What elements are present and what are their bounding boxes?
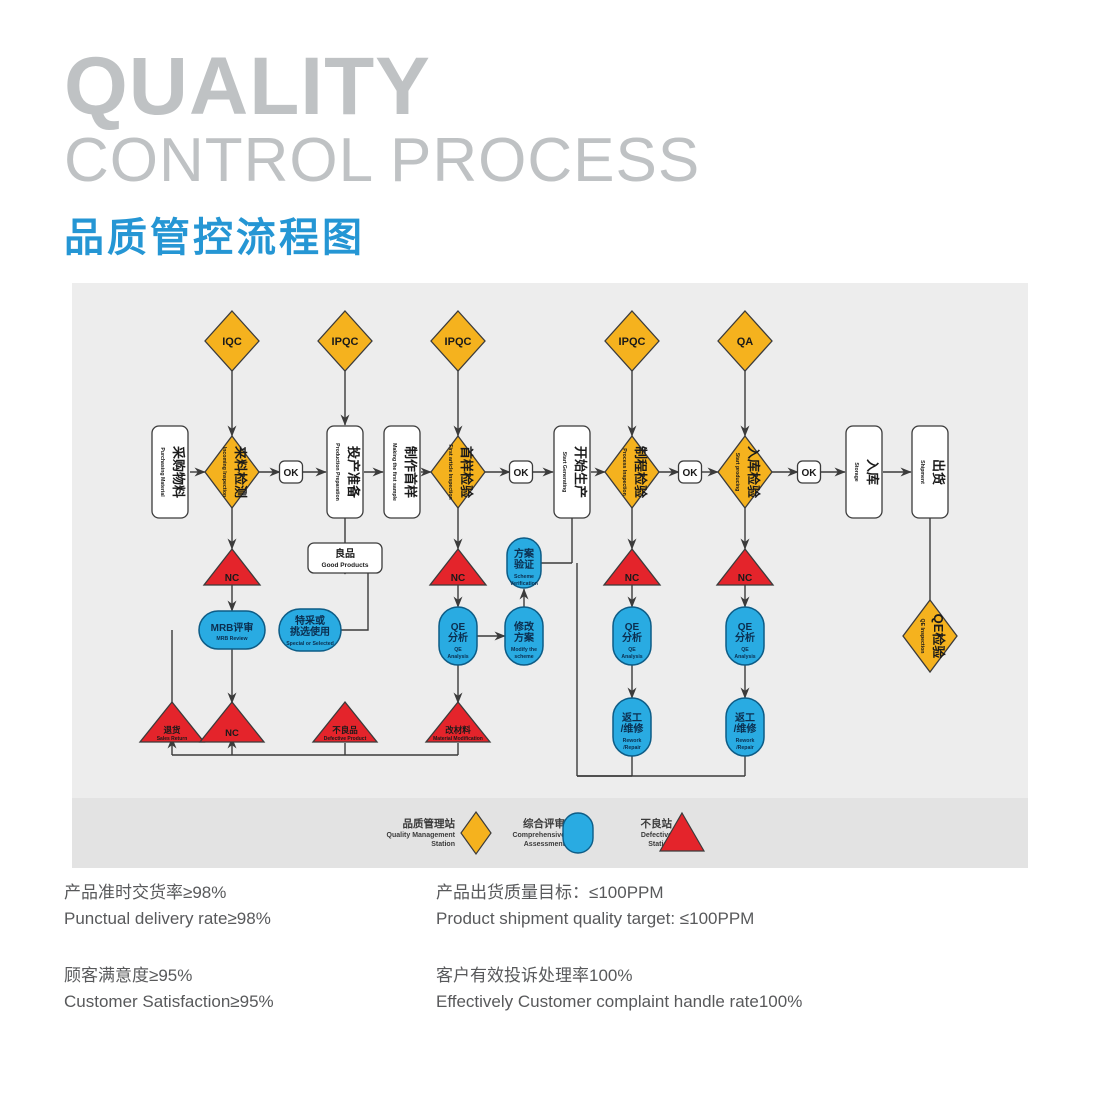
ok-node-ok2[interactable]: OK bbox=[510, 461, 533, 483]
nc-triangle-nc-warehouse[interactable]: NC bbox=[717, 549, 773, 585]
svg-text:IQC: IQC bbox=[222, 336, 242, 348]
svg-text:scheme: scheme bbox=[514, 654, 533, 660]
oval-rework-1[interactable]: 返工/维修Rework/Repair bbox=[613, 698, 651, 756]
legend-oval-icon bbox=[563, 813, 593, 853]
svg-text:返工: 返工 bbox=[735, 711, 755, 724]
svg-text:QE Inspection: QE Inspection bbox=[919, 619, 925, 654]
inspection-diamond-incoming[interactable]: 来料检测Incoming Inspection bbox=[205, 436, 259, 508]
svg-text:Quality Management: Quality Management bbox=[387, 832, 456, 839]
svg-text:不良品: 不良品 bbox=[332, 725, 358, 735]
svg-text:Verification: Verification bbox=[510, 581, 538, 587]
svg-text:Station: Station bbox=[431, 841, 455, 848]
svg-text:修改: 修改 bbox=[513, 620, 535, 633]
svg-text:OK: OK bbox=[802, 468, 818, 479]
oval-modify[interactable]: 修改方案Modify thescheme bbox=[505, 607, 543, 665]
svg-text:综合评审: 综合评审 bbox=[523, 817, 565, 830]
svg-text:Scheme: Scheme bbox=[514, 574, 534, 580]
svg-text:来料检测: 来料检测 bbox=[233, 445, 248, 498]
process-box-storage[interactable]: 入库Storage bbox=[846, 426, 882, 518]
footer-col-left: 产品准时交货率≥98% Punctual delivery rate≥98% 顾… bbox=[64, 880, 424, 1045]
svg-text:Analysis: Analysis bbox=[621, 654, 642, 660]
svg-text:NC: NC bbox=[625, 573, 639, 584]
svg-text:入库检验: 入库检验 bbox=[746, 446, 761, 499]
svg-text:Good Products: Good Products bbox=[322, 562, 369, 569]
nc-triangle-nc-first[interactable]: NC bbox=[430, 549, 486, 585]
ok-node-ok3[interactable]: OK bbox=[679, 461, 702, 483]
legend-group: 品质管理站Quality ManagementStation综合评审Compre… bbox=[387, 812, 704, 854]
metric-en: Customer Satisfaction≥95% bbox=[64, 989, 424, 1015]
footer-item: 客户有效投诉处理率100% Effectively Customer compl… bbox=[436, 963, 996, 1016]
svg-text:IPQC: IPQC bbox=[445, 336, 472, 348]
quality-control-process-page: QUALITY CONTROL PROCESS 品质管控流程图 IQCIPQCI… bbox=[0, 0, 1100, 1100]
defect-triangle-defective[interactable]: 不良品Defective Product bbox=[313, 702, 377, 742]
oval-rework-2[interactable]: 返工/维修Rework/Repair bbox=[726, 698, 764, 756]
svg-text:不良站: 不良站 bbox=[641, 817, 673, 830]
svg-text:OK: OK bbox=[683, 468, 699, 479]
process-box-shipment[interactable]: 出货Shipment bbox=[912, 426, 948, 518]
svg-text:首样检验: 首样检验 bbox=[459, 446, 474, 499]
svg-text:First article Inspection: First article Inspection bbox=[447, 444, 453, 499]
station-diamond-iqc[interactable]: IQC bbox=[205, 311, 259, 371]
svg-text:Production Preparation: Production Preparation bbox=[334, 443, 340, 501]
svg-text:Defective Product: Defective Product bbox=[324, 736, 367, 742]
svg-text:/维修: /维修 bbox=[734, 722, 758, 735]
svg-text:Sales Return: Sales Return bbox=[157, 736, 188, 742]
svg-text:QA: QA bbox=[737, 336, 754, 348]
svg-text:/Repair: /Repair bbox=[736, 745, 754, 751]
svg-text:制程检验: 制程检验 bbox=[633, 446, 648, 499]
svg-text:返工: 返工 bbox=[622, 711, 642, 724]
svg-text:分析: 分析 bbox=[622, 631, 642, 644]
process-box-prod-prep[interactable]: 投产准备Production Preparation bbox=[327, 426, 363, 518]
svg-text:分析: 分析 bbox=[448, 631, 468, 644]
svg-text:Storage: Storage bbox=[853, 462, 859, 481]
nc-triangle-nc-process[interactable]: NC bbox=[604, 549, 660, 585]
inspection-diamond-first-article[interactable]: 首样检验First article Inspection bbox=[431, 436, 485, 508]
process-box-first-sample[interactable]: 制作首样Making the first sample bbox=[384, 426, 420, 518]
svg-text:采购物料: 采购物料 bbox=[171, 445, 186, 498]
oval-qe-wh[interactable]: QE分析QEAnalysis bbox=[726, 607, 764, 665]
good-products-box[interactable]: 良品Good Products bbox=[308, 543, 382, 573]
metric-en: Product shipment quality target: ≤100PPM bbox=[436, 906, 996, 932]
defect-triangle-nc-bottom[interactable]: NC bbox=[200, 702, 264, 742]
svg-text:Special or Selected: Special or Selected bbox=[286, 641, 334, 647]
ok-node-ok1[interactable]: OK bbox=[280, 461, 303, 483]
metric-cn: 产品准时交货率≥98% bbox=[64, 880, 424, 906]
svg-text:方案: 方案 bbox=[514, 547, 535, 560]
inspection-diamond-warehouse[interactable]: 入库检验Start producing bbox=[718, 436, 772, 508]
svg-text:Shipment: Shipment bbox=[919, 460, 925, 484]
svg-text:品质管理站: 品质管理站 bbox=[403, 817, 456, 830]
legend-item-quality-station: 品质管理站Quality ManagementStation bbox=[387, 812, 491, 854]
defect-triangle-material-mod[interactable]: 改材料Material Modification bbox=[426, 702, 490, 742]
metric-cn: 顾客满意度≥95% bbox=[64, 963, 424, 989]
svg-text:QE: QE bbox=[738, 622, 753, 633]
svg-text:Comprehensive: Comprehensive bbox=[512, 832, 565, 839]
station-diamond-ipqc3[interactable]: IPQC bbox=[605, 311, 659, 371]
inspection-diamond-qe-insp[interactable]: QE检验QE Inspection bbox=[903, 600, 957, 672]
svg-text:QE: QE bbox=[741, 647, 749, 653]
station-diamond-ipqc1[interactable]: IPQC bbox=[318, 311, 372, 371]
oval-scheme-ver[interactable]: 方案验证SchemeVerification bbox=[507, 538, 541, 588]
svg-text:退货: 退货 bbox=[163, 725, 181, 735]
svg-text:MRB评审: MRB评审 bbox=[211, 621, 254, 634]
svg-text:QE: QE bbox=[451, 622, 466, 633]
svg-text:NC: NC bbox=[225, 728, 239, 739]
svg-text:改材料: 改材料 bbox=[445, 725, 471, 735]
legend-item-comprehensive: 综合评审ComprehensiveAssessment bbox=[512, 813, 593, 853]
metric-cn: 产品出货质量目标：≤100PPM bbox=[436, 880, 996, 906]
station-diamond-qa[interactable]: QA bbox=[718, 311, 772, 371]
svg-text:投产准备: 投产准备 bbox=[346, 446, 361, 499]
svg-text:Rework: Rework bbox=[736, 738, 755, 744]
svg-text:入库: 入库 bbox=[865, 459, 880, 485]
svg-text:QE检验: QE检验 bbox=[931, 614, 946, 660]
footer-item: 顾客满意度≥95% Customer Satisfaction≥95% bbox=[64, 963, 424, 1016]
svg-text:MRB Review: MRB Review bbox=[216, 636, 248, 642]
station-diamond-ipqc2[interactable]: IPQC bbox=[431, 311, 485, 371]
svg-text:Material Modification: Material Modification bbox=[433, 736, 483, 742]
oval-qe-first[interactable]: QE分析QEAnalysis bbox=[439, 607, 477, 665]
svg-text:Modify the: Modify the bbox=[511, 647, 537, 653]
svg-text:NC: NC bbox=[451, 573, 465, 584]
oval-special[interactable]: 特采或挑选使用Special or Selected bbox=[279, 609, 341, 651]
svg-text:出货: 出货 bbox=[931, 459, 946, 485]
svg-text:Making the first sample: Making the first sample bbox=[391, 443, 397, 501]
flow-nodes: IQCIPQCIPQCIPQCQA采购物料Purchasing Material… bbox=[140, 311, 957, 756]
svg-text:挑选使用: 挑选使用 bbox=[290, 625, 330, 638]
svg-text:/Repair: /Repair bbox=[623, 745, 641, 751]
svg-text:良品: 良品 bbox=[335, 547, 355, 560]
nc-triangle-nc-incoming[interactable]: NC bbox=[204, 549, 260, 585]
svg-text:NC: NC bbox=[225, 573, 239, 584]
footer-item: 产品出货质量目标：≤100PPM Product shipment qualit… bbox=[436, 880, 996, 933]
metric-en: Punctual delivery rate≥98% bbox=[64, 906, 424, 932]
inspection-diamond-process-insp[interactable]: 制程检验Process Inspection bbox=[605, 436, 659, 508]
oval-mrb[interactable]: MRB评审MRB Review bbox=[199, 611, 265, 649]
footer-col-right: 产品出货质量目标：≤100PPM Product shipment qualit… bbox=[436, 880, 996, 1045]
oval-qe-process[interactable]: QE分析QEAnalysis bbox=[613, 607, 651, 665]
svg-text:QE: QE bbox=[628, 647, 636, 653]
defect-triangle-sales-return[interactable]: 退货Sales Return bbox=[140, 702, 204, 742]
svg-text:Assessment: Assessment bbox=[524, 841, 566, 848]
svg-text:Incoming Inspection: Incoming Inspection bbox=[221, 447, 227, 497]
svg-text:开始生产: 开始生产 bbox=[573, 446, 588, 498]
svg-text:Purchasing Material: Purchasing Material bbox=[159, 447, 165, 497]
svg-text:特采或: 特采或 bbox=[295, 614, 325, 627]
svg-text:OK: OK bbox=[514, 468, 530, 479]
process-box-start-prod[interactable]: 开始生产Start Generating bbox=[554, 426, 590, 518]
metric-cn: 客户有效投诉处理率100% bbox=[436, 963, 996, 989]
svg-text:Analysis: Analysis bbox=[734, 654, 755, 660]
footer-item: 产品准时交货率≥98% Punctual delivery rate≥98% bbox=[64, 880, 424, 933]
svg-text:Process Inspection: Process Inspection bbox=[621, 448, 627, 496]
svg-text:Rework: Rework bbox=[623, 738, 642, 744]
svg-text:IPQC: IPQC bbox=[332, 336, 359, 348]
svg-text:Analysis: Analysis bbox=[447, 654, 468, 660]
svg-text:方案: 方案 bbox=[514, 631, 535, 644]
ok-node-ok4[interactable]: OK bbox=[798, 461, 821, 483]
svg-text:OK: OK bbox=[284, 468, 300, 479]
legend-item-defective-station: 不良站DefectiveStation bbox=[641, 813, 705, 851]
flow-edges bbox=[172, 371, 930, 776]
legend-diamond-icon bbox=[461, 812, 491, 854]
svg-text:QE: QE bbox=[625, 622, 640, 633]
svg-text:制作首样: 制作首样 bbox=[403, 446, 418, 498]
svg-text:IPQC: IPQC bbox=[619, 336, 646, 348]
metric-en: Effectively Customer complaint handle ra… bbox=[436, 989, 996, 1015]
process-box-purchasing[interactable]: 采购物料Purchasing Material bbox=[152, 426, 188, 518]
svg-text:Start producing: Start producing bbox=[734, 453, 740, 492]
svg-text:Start Generating: Start Generating bbox=[561, 452, 567, 493]
svg-text:分析: 分析 bbox=[735, 631, 755, 644]
svg-text:/维修: /维修 bbox=[621, 722, 645, 735]
svg-text:NC: NC bbox=[738, 573, 752, 584]
svg-text:验证: 验证 bbox=[514, 558, 534, 571]
svg-text:QE: QE bbox=[454, 647, 462, 653]
